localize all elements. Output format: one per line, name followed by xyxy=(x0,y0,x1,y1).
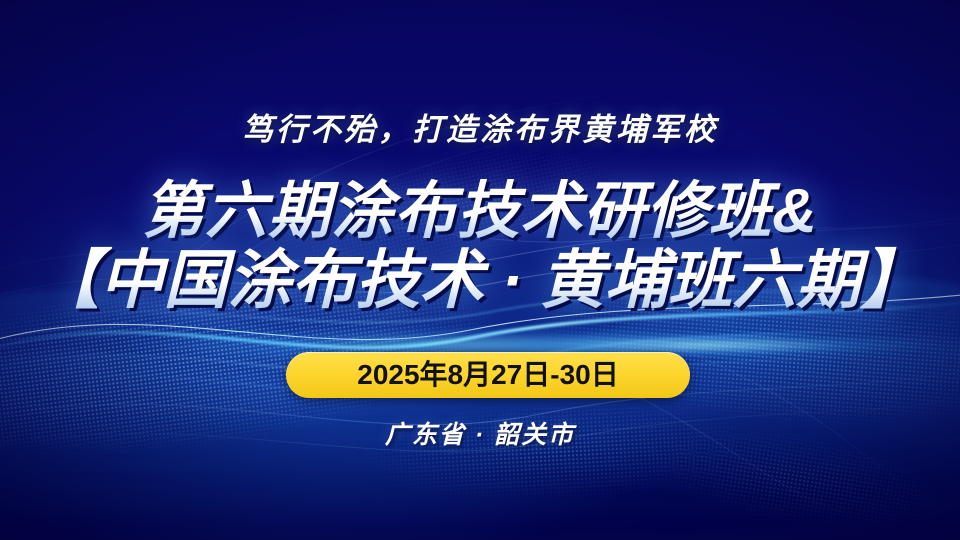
date-badge: 2025年8月27日-30日 xyxy=(286,352,690,398)
banner-title: 第六期涂布技术研修班& 【中国涂布技术 · 黄埔班六期】 xyxy=(0,178,960,314)
event-banner: 笃行不殆，打造涂布界黄埔军校 第六期涂布技术研修班& 【中国涂布技术 · 黄埔班… xyxy=(0,0,960,540)
banner-subtitle: 笃行不殆，打造涂布界黄埔军校 xyxy=(0,104,960,149)
banner-content: 笃行不殆，打造涂布界黄埔军校 第六期涂布技术研修班& 【中国涂布技术 · 黄埔班… xyxy=(0,0,960,540)
banner-location: 广东省 · 韶关市 xyxy=(0,415,960,451)
date-badge-label: 2025年8月27日-30日 xyxy=(357,361,618,389)
banner-title-line-2: 【中国涂布技术 · 黄埔班六期】 xyxy=(0,246,960,314)
banner-title-line-1: 第六期涂布技术研修班& xyxy=(0,178,960,246)
